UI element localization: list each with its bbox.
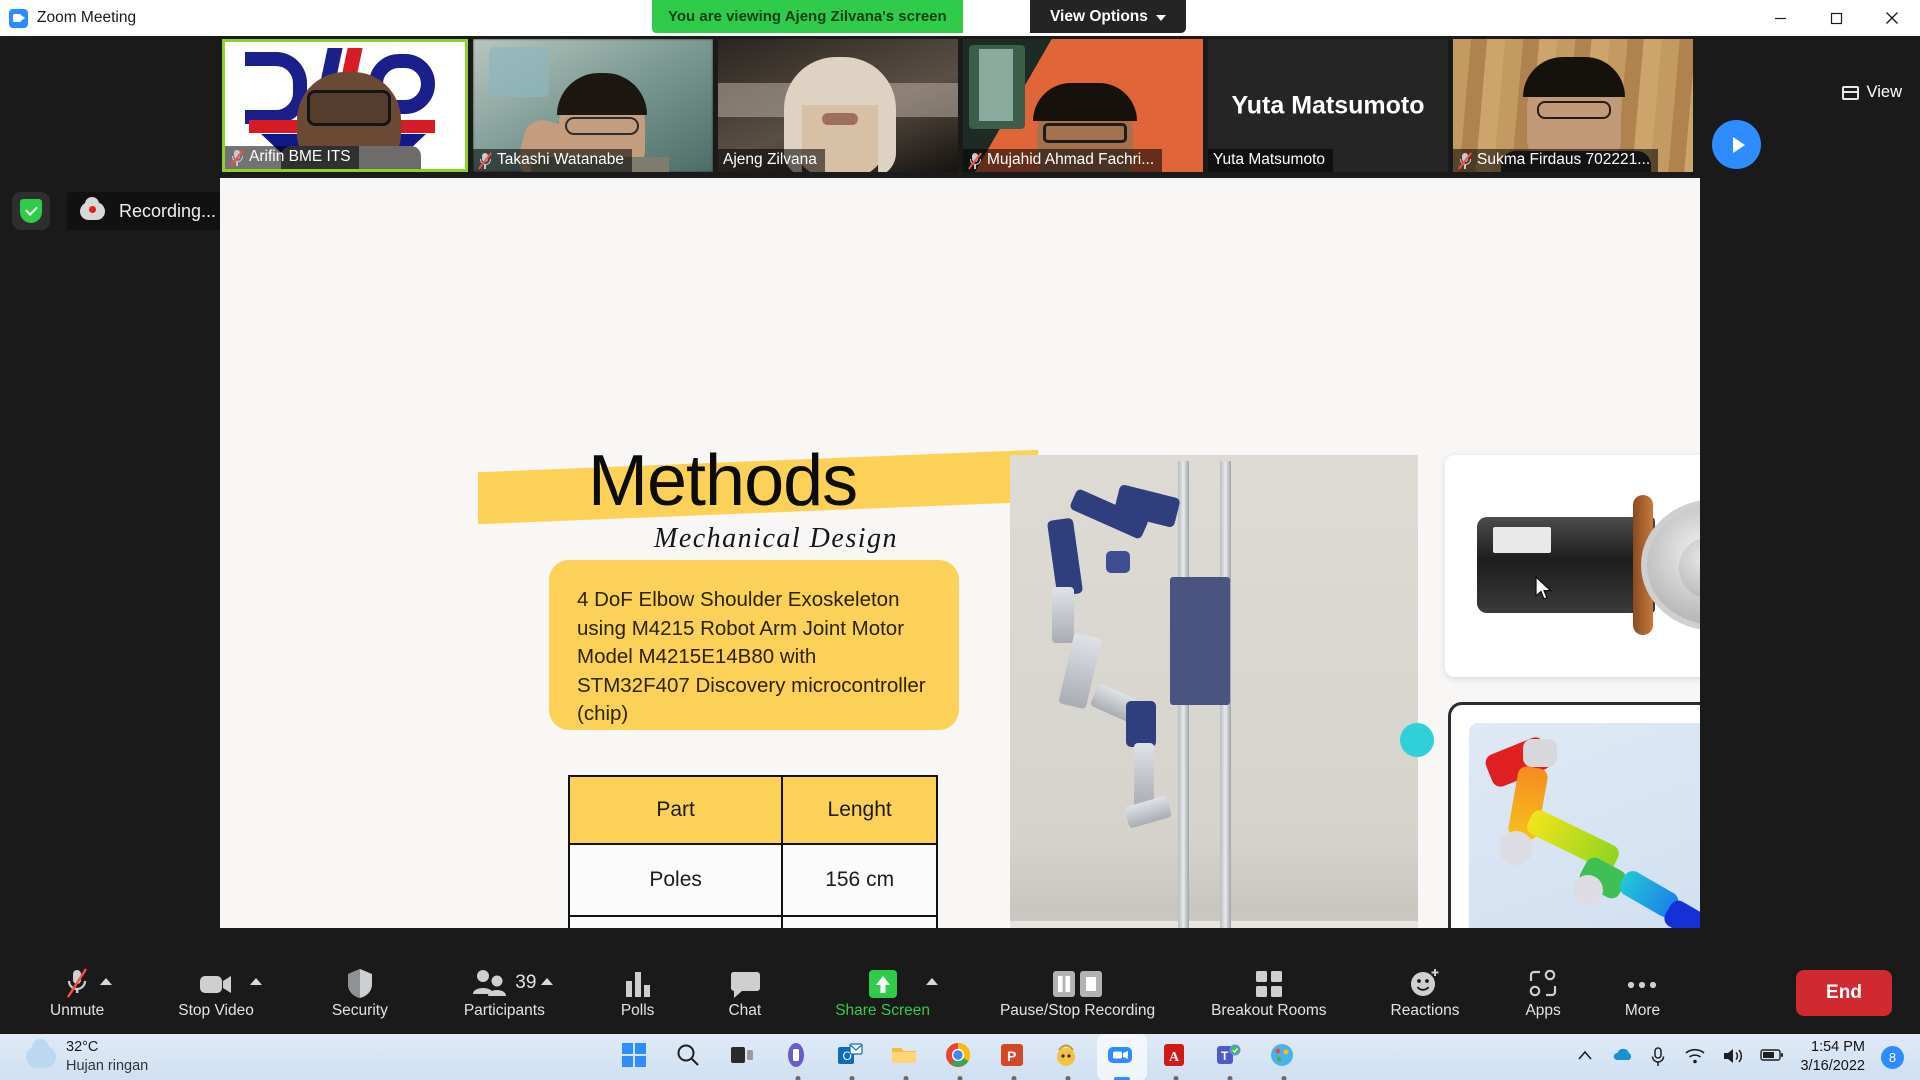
unmute-label: Unmute bbox=[50, 1002, 104, 1020]
thumbnail-label: Yuta Matsumoto bbox=[1208, 149, 1333, 172]
app-icon[interactable] bbox=[1053, 1042, 1083, 1072]
apps-label: Apps bbox=[1525, 1002, 1560, 1020]
more-button[interactable]: More bbox=[1619, 952, 1666, 1034]
slide-subtitle: Mechanical Design bbox=[654, 523, 898, 555]
breakout-rooms-grid-icon bbox=[1254, 967, 1284, 999]
robot-joint-motor-photo bbox=[1445, 455, 1700, 677]
table-row: shoulder 20 cm bbox=[569, 916, 937, 928]
battery-icon[interactable] bbox=[1760, 1048, 1784, 1066]
apps-icon bbox=[1529, 967, 1557, 999]
task-view-icon[interactable] bbox=[729, 1042, 759, 1072]
view-button-label: View bbox=[1867, 83, 1902, 102]
svg-text:P: P bbox=[1007, 1048, 1016, 1064]
participant-name: Takashi Watanabe bbox=[497, 151, 624, 169]
participant-name: Mujahid Ahmad Fachri... bbox=[987, 151, 1154, 169]
table-header-length: Lenght bbox=[782, 776, 937, 844]
chevron-up-icon[interactable] bbox=[541, 978, 553, 985]
chevron-right-icon[interactable] bbox=[1712, 120, 1761, 169]
security-shield-icon bbox=[20, 199, 42, 223]
polls-bar-icon bbox=[623, 967, 653, 999]
mic-muted-icon bbox=[968, 152, 982, 169]
volume-icon[interactable] bbox=[1722, 1047, 1744, 1067]
participant-name: Ajeng Zilvana bbox=[723, 151, 817, 169]
shared-screen-content[interactable]: Methods Mechanical Design 4 DoF Elbow Sh… bbox=[220, 178, 1700, 928]
participants-icon: 39 bbox=[472, 967, 536, 999]
chat-button[interactable]: Chat bbox=[722, 952, 767, 1034]
security-label: Security bbox=[332, 1002, 388, 1020]
clock-time: 1:54 PM bbox=[1800, 1038, 1865, 1057]
thumbnail-label: Sukma Firdaus 702221... bbox=[1453, 149, 1658, 172]
onedrive-icon[interactable] bbox=[1612, 1046, 1634, 1068]
window-title: Zoom Meeting bbox=[37, 9, 136, 27]
participants-button[interactable]: 39 Participants bbox=[458, 952, 551, 1034]
clock-date: 3/16/2022 bbox=[1800, 1057, 1865, 1076]
window-titlebar: Zoom Meeting You are viewing Ajeng Zilva… bbox=[0, 0, 1920, 36]
paint-icon[interactable] bbox=[1269, 1042, 1299, 1072]
participant-name: Sukma Firdaus 702221... bbox=[1477, 151, 1650, 169]
table-cell-length: 156 cm bbox=[782, 844, 937, 916]
table-row: Poles 156 cm bbox=[569, 844, 937, 916]
zoom-meeting-toolbar: Unmute Stop Video Security bbox=[0, 952, 1920, 1034]
app-running-dot bbox=[796, 1076, 801, 1080]
shield-icon bbox=[346, 967, 374, 999]
show-hidden-icons-icon[interactable] bbox=[1576, 1047, 1596, 1067]
svg-text:A: A bbox=[1169, 1050, 1180, 1065]
breakout-rooms-button[interactable]: Breakout Rooms bbox=[1205, 952, 1332, 1034]
video-camera-icon bbox=[197, 967, 235, 999]
microphone-muted-icon bbox=[62, 967, 92, 999]
pause-stop-recording-label: Pause/Stop Recording bbox=[1000, 1002, 1155, 1020]
app-running-dot bbox=[904, 1076, 909, 1080]
adobe-acrobat-icon[interactable]: A bbox=[1161, 1042, 1191, 1072]
exoskeleton-cad-render bbox=[1448, 702, 1700, 928]
zoom-icon[interactable] bbox=[1107, 1042, 1137, 1072]
chrome-icon[interactable] bbox=[945, 1042, 975, 1072]
app-running-dot bbox=[850, 1076, 855, 1080]
app-running-dot bbox=[1282, 1076, 1287, 1080]
pause-stop-recording-button[interactable]: Pause/Stop Recording bbox=[994, 952, 1161, 1034]
thumbnail-label: Arifin BME ITS bbox=[225, 146, 359, 169]
svg-text:T: T bbox=[1221, 1049, 1229, 1063]
table-header-part: Part bbox=[569, 776, 782, 844]
end-button-label: End bbox=[1826, 982, 1862, 1004]
cloud-recording-icon bbox=[80, 202, 105, 220]
chat-label: Chat bbox=[728, 1002, 761, 1020]
microphone-icon[interactable] bbox=[1650, 1046, 1668, 1068]
polls-button[interactable]: Polls bbox=[615, 952, 661, 1034]
share-screen-label: Share Screen bbox=[835, 1002, 930, 1020]
app-running-dot bbox=[1228, 1076, 1233, 1080]
search-icon[interactable] bbox=[675, 1042, 705, 1072]
breakout-rooms-label: Breakout Rooms bbox=[1211, 1002, 1326, 1020]
slide-description-box: 4 DoF Elbow Shoulder Exoskeleton using M… bbox=[549, 560, 959, 730]
chevron-up-icon[interactable] bbox=[250, 978, 262, 985]
start-windows-icon[interactable] bbox=[621, 1042, 651, 1072]
slide-description-text: 4 DoF Elbow Shoulder Exoskeleton using M… bbox=[577, 586, 933, 729]
app-running-dot bbox=[1174, 1076, 1179, 1080]
participant-name: Yuta Matsumoto bbox=[1213, 151, 1325, 169]
thumbnail-sukma-firdaus[interactable]: Sukma Firdaus 702221... bbox=[1453, 39, 1693, 172]
stop-video-button[interactable]: Stop Video bbox=[172, 952, 260, 1034]
unmute-button[interactable]: Unmute bbox=[44, 952, 110, 1034]
taskbar-clock[interactable]: 1:54 PM 3/16/2022 bbox=[1800, 1038, 1865, 1076]
mic-muted-icon bbox=[1458, 152, 1472, 169]
end-meeting-button[interactable]: End bbox=[1796, 970, 1892, 1016]
view-grid-icon bbox=[1842, 86, 1859, 100]
microsoft-teams-icon[interactable]: T bbox=[1215, 1042, 1245, 1072]
table-cell-part: Poles bbox=[569, 844, 782, 916]
participant-name-placeholder: Yuta Matsumoto bbox=[1208, 91, 1448, 120]
view-options-label: View Options bbox=[1050, 8, 1148, 26]
thumbnail-ajeng-zilvana[interactable]: Ajeng Zilvana bbox=[718, 39, 958, 172]
screen-share-banner-text: You are viewing Ajeng Zilvana's screen bbox=[668, 8, 947, 25]
pause-stop-recording-icon bbox=[1052, 967, 1104, 999]
more-label: More bbox=[1625, 1002, 1660, 1020]
chevron-up-icon[interactable] bbox=[926, 978, 938, 985]
thumbnail-mujahid-ahmad-fachri[interactable]: Mujahid Ahmad Fachri... bbox=[963, 39, 1203, 172]
security-shield-indicator[interactable] bbox=[12, 192, 50, 230]
reactions-button[interactable]: Reactions bbox=[1385, 952, 1466, 1034]
close-button[interactable] bbox=[1864, 0, 1920, 36]
weather-condition: Hujan ringan bbox=[66, 1057, 148, 1076]
system-tray: 1:54 PM 3/16/2022 8 bbox=[1576, 1038, 1904, 1076]
share-screen-button[interactable]: Share Screen bbox=[829, 952, 936, 1034]
taskbar-app-icons: O P bbox=[621, 1042, 1299, 1072]
stop-video-label: Stop Video bbox=[178, 1002, 254, 1020]
exoskeleton-rig-photo bbox=[1010, 455, 1418, 928]
apps-button[interactable]: Apps bbox=[1519, 952, 1566, 1034]
windows-taskbar: 32°C Hujan ringan bbox=[0, 1034, 1920, 1080]
view-options-button[interactable]: View Options bbox=[1030, 0, 1186, 33]
zoom-logo-icon bbox=[9, 9, 28, 28]
view-layout-button[interactable]: View bbox=[1842, 83, 1902, 102]
table-cell-length: 20 cm bbox=[782, 916, 937, 928]
table-header-row: Part Lenght bbox=[569, 776, 937, 844]
outlook-icon[interactable]: O bbox=[837, 1042, 867, 1072]
reactions-smiley-icon bbox=[1409, 967, 1441, 999]
participants-count: 39 bbox=[515, 969, 536, 997]
thumbnail-yuta-matsumoto[interactable]: Yuta Matsumoto Yuta Matsumoto bbox=[1208, 39, 1448, 172]
screen-share-banner: You are viewing Ajeng Zilvana's screen bbox=[652, 0, 963, 33]
app-running-dot bbox=[1012, 1076, 1017, 1080]
wifi-icon[interactable] bbox=[1684, 1047, 1706, 1067]
thumbnail-label: Ajeng Zilvana bbox=[718, 149, 825, 172]
widgets-icon[interactable] bbox=[783, 1042, 813, 1072]
participant-thumbnail-strip: Arifin BME ITS Takashi Watanabe Ajeng Zi… bbox=[0, 36, 1920, 178]
notification-badge[interactable]: 8 bbox=[1881, 1046, 1904, 1069]
powerpoint-icon[interactable]: P bbox=[999, 1042, 1029, 1072]
window-controls bbox=[1752, 0, 1920, 36]
slide-title: Methods bbox=[588, 440, 857, 522]
app-running-dot bbox=[1066, 1076, 1071, 1080]
chat-bubble-icon bbox=[729, 967, 761, 999]
file-explorer-icon[interactable] bbox=[891, 1042, 921, 1072]
reactions-label: Reactions bbox=[1391, 1002, 1460, 1020]
mic-muted-icon bbox=[230, 149, 244, 166]
more-ellipsis-icon bbox=[1626, 967, 1658, 999]
thumbnail-label: Takashi Watanabe bbox=[473, 149, 632, 172]
app-running-dot bbox=[958, 1076, 963, 1080]
thumbnail-takashi-watanabe[interactable]: Takashi Watanabe bbox=[473, 39, 713, 172]
weather-temperature: 32°C bbox=[66, 1038, 148, 1057]
table-cell-part: shoulder bbox=[569, 916, 782, 928]
participant-name: Arifin BME ITS bbox=[249, 148, 351, 166]
participants-label: Participants bbox=[464, 1002, 545, 1020]
chevron-up-icon[interactable] bbox=[100, 978, 112, 985]
minimize-button[interactable] bbox=[1752, 0, 1808, 36]
thumbnail-label: Mujahid Ahmad Fachri... bbox=[963, 149, 1162, 172]
annotation-dot bbox=[1400, 723, 1434, 757]
app-identity: Zoom Meeting bbox=[0, 9, 136, 28]
chevron-down-icon bbox=[1156, 15, 1166, 21]
maximize-button[interactable] bbox=[1808, 0, 1864, 36]
mic-muted-icon bbox=[478, 152, 492, 169]
thumbnail-arifin-bme-its[interactable]: Arifin BME ITS bbox=[222, 39, 468, 172]
recording-status-label: Recording... bbox=[119, 201, 216, 222]
weather-rain-cloud-icon bbox=[26, 1046, 56, 1068]
share-screen-up-arrow-icon bbox=[868, 967, 898, 999]
polls-label: Polls bbox=[621, 1002, 655, 1020]
security-button[interactable]: Security bbox=[326, 952, 394, 1034]
parts-length-table: Part Lenght Poles 156 cm shoulder 20 cm … bbox=[568, 775, 938, 928]
taskbar-weather-widget[interactable]: 32°C Hujan ringan bbox=[0, 1038, 300, 1076]
